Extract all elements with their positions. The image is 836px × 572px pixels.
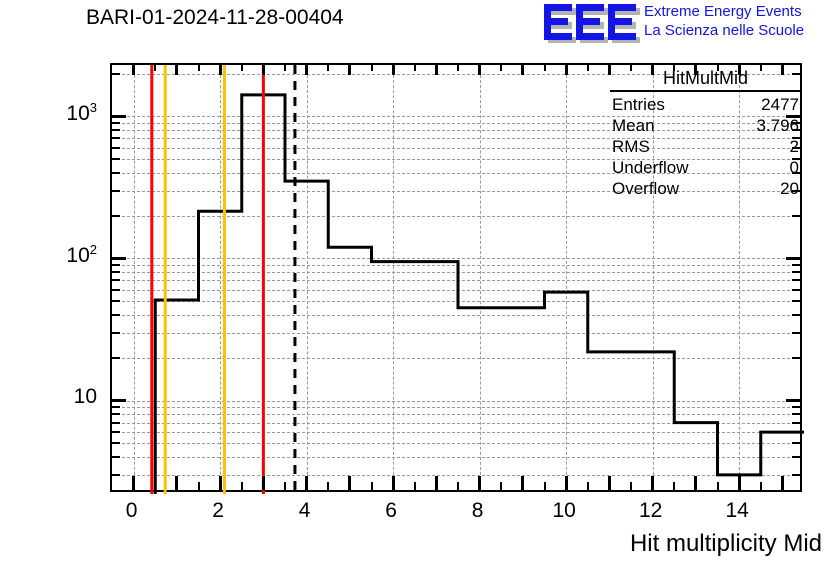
x-axis-tick-minor [284,482,286,490]
x-axis-tick-major [608,476,611,490]
y-axis-tick-minor [112,357,120,359]
plot-canvas: BARI-01-2024-11-28-00404 Extreme Energy … [0,0,836,572]
stats-row-value: 20 [780,178,799,199]
eee-logo-letters [544,4,636,40]
x-axis-label: 6 [371,499,411,523]
x-axis-tick-minor [544,482,546,490]
x-axis-tick-minor [717,482,719,490]
y-axis-tick-minor [112,289,120,291]
x-axis-tick-minor [500,65,502,71]
x-axis-tick-major [348,476,351,490]
y-axis-tick-minor [112,431,120,433]
stats-row-label: Mean [612,115,655,136]
eee-logo-letter-2 [576,4,604,40]
x-axis-label: 14 [717,499,757,523]
x-axis-tick-major [219,476,222,490]
y-axis-tick-minor [792,442,800,444]
y-axis-tick-minor [112,300,120,302]
y-axis-tick-minor [792,314,800,316]
stats-row: Underflow0 [608,157,803,178]
eee-logo-line2: La Scienza nelle Scuole [644,21,804,40]
y-axis-tick-minor [112,271,120,273]
x-axis-tick-major [435,476,438,490]
y-axis-tick-minor [792,215,800,217]
y-axis-label: 103 [2,100,97,126]
y-axis-tick-minor [112,314,120,316]
stats-row-value: 2477 [761,94,799,115]
y-axis-tick-minor [112,456,120,458]
x-axis-tick-major [521,476,524,490]
y-axis-tick-minor [792,289,800,291]
stats-row-label: RMS [612,136,650,157]
x-axis-tick-minor [457,65,459,71]
x-axis-label: 8 [458,499,498,523]
x-axis-tick-minor [371,482,373,490]
x-axis-tick-major [132,476,135,490]
stats-row-label: Overflow [612,178,679,199]
x-axis-title: Hit multiplicity Mid [630,530,822,558]
x-axis-tick-major [392,65,395,75]
stats-row: Overflow20 [608,178,803,199]
y-axis-tick-minor [792,456,800,458]
x-axis-tick-major [781,476,784,490]
x-axis-tick-minor [284,65,286,71]
x-axis-tick-minor [414,65,416,71]
y-axis-tick-minor [112,147,120,149]
x-axis-tick-minor [630,482,632,490]
y-axis-tick-minor [792,422,800,424]
x-axis-tick-major [262,65,265,75]
x-axis-tick-major [565,476,568,490]
x-axis-tick-major [219,65,222,75]
x-axis-tick-minor [500,482,502,490]
y-axis-tick-minor [112,172,120,174]
x-axis-label: 12 [631,499,671,523]
y-axis-tick-minor [112,137,120,139]
x-axis-tick-major [651,476,654,490]
x-axis-tick-major [262,476,265,490]
y-axis-tick-minor [792,474,800,476]
x-axis-tick-minor [327,482,329,490]
x-axis-tick-minor [154,65,156,71]
x-axis-label: 0 [112,499,152,523]
stats-box: HitMultMid Entries2477Mean3.796RMS2Under… [608,68,803,199]
x-axis-tick-major [175,65,178,75]
x-axis-label: 2 [198,499,238,523]
x-axis-tick-major [132,65,135,75]
y-axis-tick-major [786,257,800,260]
y-axis-tick-minor [792,271,800,273]
y-axis-tick-minor [792,300,800,302]
x-axis-tick-major [305,476,308,490]
y-axis-tick-minor [792,332,800,334]
y-axis-tick-minor [112,122,120,124]
y-axis-tick-major [112,257,126,260]
y-axis-tick-minor [792,406,800,408]
x-axis-label: 4 [285,499,325,523]
stats-row: Mean3.796 [608,115,803,136]
y-axis-tick-minor [112,422,120,424]
x-axis-tick-minor [414,482,416,490]
x-axis-tick-minor [760,482,762,490]
eee-logo-line1: Extreme Energy Events [644,2,804,21]
y-axis-tick-minor [112,190,120,192]
y-axis-label: 102 [2,242,97,268]
x-axis-tick-minor [587,482,589,490]
stats-row: Entries2477 [608,94,803,115]
x-axis-tick-minor [544,65,546,71]
y-axis-tick-minor [112,264,120,266]
x-axis-tick-minor [198,482,200,490]
x-axis-tick-major [305,65,308,75]
y-axis-tick-minor [112,215,120,217]
x-axis-tick-major [435,65,438,75]
x-axis-tick-major [348,65,351,75]
y-axis-tick-minor [112,332,120,334]
x-axis-tick-major [565,65,568,75]
y-axis-tick-minor [112,474,120,476]
x-axis-label: 10 [544,499,584,523]
stats-row-label: Entries [612,94,665,115]
y-axis-tick-minor [792,264,800,266]
stats-title: HitMultMid [610,68,801,92]
x-axis-tick-minor [673,482,675,490]
eee-logo-letter-3 [608,4,636,40]
x-axis-tick-minor [327,65,329,71]
x-axis-tick-major [392,476,395,490]
x-axis-tick-minor [241,482,243,490]
stats-row: RMS2 [608,136,803,157]
stats-rows: Entries2477Mean3.796RMS2Underflow0Overfl… [608,94,803,199]
y-axis-tick-minor [112,279,120,281]
x-axis-tick-major [478,476,481,490]
y-axis-tick-minor [112,413,120,415]
y-axis-tick-minor [792,357,800,359]
eee-logo-letter-1 [544,4,572,40]
y-axis-tick-major [112,399,126,402]
x-axis-tick-major [738,476,741,490]
x-axis-tick-minor [198,65,200,71]
y-axis-tick-minor [112,73,120,75]
stats-row-value: 2 [790,136,799,157]
y-axis-tick-minor [112,406,120,408]
page-title: BARI-01-2024-11-28-00404 [86,6,344,30]
y-axis-tick-minor [112,158,120,160]
y-axis-tick-minor [112,129,120,131]
stats-row-value: 3.796 [756,115,799,136]
y-axis-tick-major [786,399,800,402]
x-axis-tick-minor [587,65,589,71]
x-axis-tick-minor [241,65,243,71]
x-axis-tick-minor [154,482,156,490]
x-axis-tick-major [521,65,524,75]
y-axis-tick-minor [792,279,800,281]
x-axis-tick-minor [457,482,459,490]
stats-row-value: 0 [790,157,799,178]
stats-row-label: Underflow [612,157,689,178]
eee-logo-text: Extreme Energy Events La Scienza nelle S… [644,2,804,40]
y-axis-tick-minor [112,442,120,444]
y-axis-tick-major [112,115,126,118]
x-axis-tick-major [694,476,697,490]
x-axis-tick-major [478,65,481,75]
eee-logo: Extreme Energy Events La Scienza nelle S… [544,2,834,42]
y-axis-tick-minor [792,431,800,433]
y-axis-tick-minor [792,413,800,415]
x-axis-tick-minor [371,65,373,71]
x-axis-tick-major [175,476,178,490]
y-axis-label: 10 [2,385,97,409]
